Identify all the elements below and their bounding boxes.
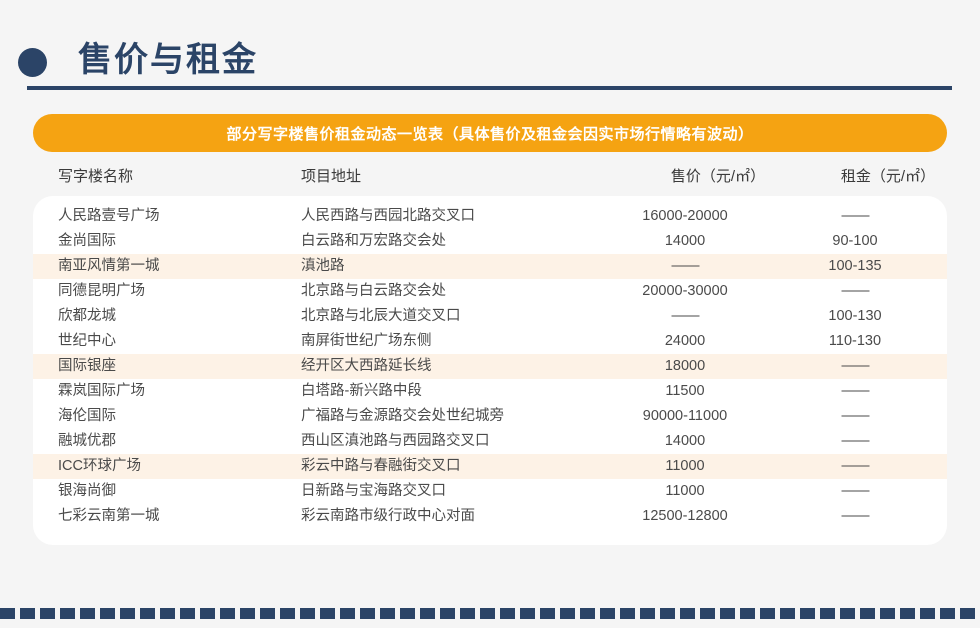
table-row: 金尚国际白云路和万宏路交会处1400090-100 — [33, 229, 947, 254]
cell-rent-price: —— — [760, 282, 947, 301]
footer-dash-segment — [440, 608, 455, 619]
cell-building-name: 南亚风情第一城 — [58, 257, 160, 276]
table-banner-text: 部分写字楼售价租金动态一览表（具体售价及租金会因实市场行情略有波动） — [226, 123, 753, 144]
footer-dash-segment — [140, 608, 155, 619]
cell-rent-price: —— — [760, 357, 947, 376]
cell-address: 白云路和万宏路交会处 — [301, 232, 446, 251]
cell-building-name: 银海尚御 — [58, 482, 116, 501]
cell-address: 西山区滇池路与西园路交叉口 — [301, 432, 490, 451]
cell-rent-price: 100-130 — [760, 307, 947, 326]
cell-building-name: ICC环球广场 — [58, 457, 141, 476]
cell-address: 经开区大西路延长线 — [301, 357, 432, 376]
cell-sale-price: 20000-30000 — [590, 282, 780, 301]
footer-dash-segment — [340, 608, 355, 619]
cell-address: 白塔路-新兴路中段 — [301, 382, 422, 401]
cell-sale-price: 11000 — [590, 482, 780, 501]
table-row: 霖岚国际广场白塔路-新兴路中段11500—— — [33, 379, 947, 404]
cell-sale-price: 14000 — [590, 432, 780, 451]
pricing-table-card: 部分写字楼售价租金动态一览表（具体售价及租金会因实市场行情略有波动） 写字楼名称… — [33, 114, 947, 545]
table-row: 世纪中心南屏街世纪广场东侧24000110-130 — [33, 329, 947, 354]
cell-address: 北京路与北辰大道交叉口 — [301, 307, 461, 326]
cell-rent-price: —— — [760, 457, 947, 476]
cell-address: 彩云中路与春融街交叉口 — [301, 457, 461, 476]
footer-dash-segment — [860, 608, 875, 619]
cell-building-name: 金尚国际 — [58, 232, 116, 251]
column-header-price: 售价（元/㎡） — [623, 165, 813, 186]
table-row: ICC环球广场彩云中路与春融街交叉口11000—— — [33, 454, 947, 479]
footer-dash-segment — [900, 608, 915, 619]
table-row: 国际银座经开区大西路延长线18000—— — [33, 354, 947, 379]
table-row: 人民路壹号广场人民西路与西园北路交叉口16000-20000—— — [33, 204, 947, 229]
table-row: 同德昆明广场北京路与白云路交会处20000-30000—— — [33, 279, 947, 304]
cell-rent-price: 90-100 — [760, 232, 947, 251]
cell-building-name: 海伦国际 — [58, 407, 116, 426]
cell-rent-price: —— — [760, 207, 947, 226]
footer-dash-segment — [820, 608, 835, 619]
cell-sale-price: 16000-20000 — [590, 207, 780, 226]
filled-circle-icon — [18, 48, 47, 77]
cell-sale-price: 12500-12800 — [590, 507, 780, 526]
table-banner: 部分写字楼售价租金动态一览表（具体售价及租金会因实市场行情略有波动） — [33, 114, 947, 152]
footer-dash-segment — [420, 608, 435, 619]
column-header-name: 写字楼名称 — [58, 165, 133, 186]
cell-address: 广福路与金源路交会处世纪城旁 — [301, 407, 504, 426]
footer-dash-segment — [360, 608, 375, 619]
footer-dash-segment — [520, 608, 535, 619]
footer-dash-segment — [720, 608, 735, 619]
footer-dash-segment — [940, 608, 955, 619]
cell-address: 彩云南路市级行政中心对面 — [301, 507, 475, 526]
footer-dash-segment — [120, 608, 135, 619]
cell-building-name: 霖岚国际广场 — [58, 382, 145, 401]
page-header: 售价与租金 — [0, 0, 980, 100]
table-row: 七彩云南第一城彩云南路市级行政中心对面12500-12800—— — [33, 504, 947, 529]
footer-dash-segment — [460, 608, 475, 619]
footer-dash-segment — [660, 608, 675, 619]
footer-dash-segment — [40, 608, 55, 619]
table-row: 欣都龙城北京路与北辰大道交叉口——100-130 — [33, 304, 947, 329]
footer-dashed-strip — [0, 608, 980, 619]
footer-dash-segment — [0, 608, 15, 619]
cell-rent-price: —— — [760, 482, 947, 501]
footer-dash-segment — [300, 608, 315, 619]
footer-dash-segment — [880, 608, 895, 619]
table-row: 海伦国际广福路与金源路交会处世纪城旁90000-11000—— — [33, 404, 947, 429]
footer-dash-segment — [540, 608, 555, 619]
footer-dash-segment — [680, 608, 695, 619]
footer-dash-segment — [640, 608, 655, 619]
cell-address: 南屏街世纪广场东侧 — [301, 332, 432, 351]
footer-dash-segment — [800, 608, 815, 619]
cell-sale-price: 11500 — [590, 382, 780, 401]
column-header-rent: 租金（元/㎡） — [793, 165, 980, 186]
footer-dash-segment — [620, 608, 635, 619]
footer-dash-segment — [260, 608, 275, 619]
footer-dash-segment — [220, 608, 235, 619]
table-row: 融城优郡西山区滇池路与西园路交叉口14000—— — [33, 429, 947, 454]
footer-dash-segment — [380, 608, 395, 619]
footer-dash-segment — [60, 608, 75, 619]
footer-dash-segment — [960, 608, 975, 619]
footer-dash-segment — [80, 608, 95, 619]
cell-address: 北京路与白云路交会处 — [301, 282, 446, 301]
footer-dash-segment — [280, 608, 295, 619]
footer-dash-segment — [180, 608, 195, 619]
footer-dash-segment — [500, 608, 515, 619]
cell-sale-price: 14000 — [590, 232, 780, 251]
table-body: 人民路壹号广场人民西路与西园北路交叉口16000-20000——金尚国际白云路和… — [33, 196, 947, 545]
cell-building-name: 融城优郡 — [58, 432, 116, 451]
cell-rent-price: —— — [760, 382, 947, 401]
footer-dash-segment — [740, 608, 755, 619]
cell-sale-price: 11000 — [590, 457, 780, 476]
cell-rent-price: 110-130 — [760, 332, 947, 351]
footer-dash-segment — [560, 608, 575, 619]
footer-dash-segment — [320, 608, 335, 619]
cell-rent-price: 100-135 — [760, 257, 947, 276]
cell-rent-price: —— — [760, 407, 947, 426]
cell-building-name: 国际银座 — [58, 357, 116, 376]
cell-building-name: 同德昆明广场 — [58, 282, 145, 301]
page-title: 售价与租金 — [78, 38, 258, 82]
footer-dash-segment — [480, 608, 495, 619]
cell-sale-price: 18000 — [590, 357, 780, 376]
column-header-address: 项目地址 — [301, 165, 361, 186]
footer-dash-segment — [780, 608, 795, 619]
table-column-headers: 写字楼名称 项目地址 售价（元/㎡） 租金（元/㎡） — [33, 152, 947, 196]
cell-sale-price: 90000-11000 — [590, 407, 780, 426]
footer-dash-segment — [100, 608, 115, 619]
cell-rent-price: —— — [760, 507, 947, 526]
cell-building-name: 欣都龙城 — [58, 307, 116, 326]
cell-sale-price: —— — [590, 307, 780, 326]
footer-dash-segment — [160, 608, 175, 619]
cell-rent-price: —— — [760, 432, 947, 451]
cell-sale-price: —— — [590, 257, 780, 276]
cell-address: 滇池路 — [301, 257, 345, 276]
cell-address: 日新路与宝海路交叉口 — [301, 482, 446, 501]
footer-dash-segment — [700, 608, 715, 619]
footer-dash-segment — [920, 608, 935, 619]
footer-dash-segment — [200, 608, 215, 619]
cell-address: 人民西路与西园北路交叉口 — [301, 207, 475, 226]
cell-building-name: 七彩云南第一城 — [58, 507, 160, 526]
title-underline-rule — [27, 86, 952, 90]
cell-building-name: 人民路壹号广场 — [58, 207, 160, 226]
footer-dash-segment — [600, 608, 615, 619]
footer-dash-segment — [760, 608, 775, 619]
cell-building-name: 世纪中心 — [58, 332, 116, 351]
footer-dash-segment — [400, 608, 415, 619]
footer-dash-segment — [580, 608, 595, 619]
table-row: 银海尚御日新路与宝海路交叉口11000—— — [33, 479, 947, 504]
footer-dash-segment — [840, 608, 855, 619]
footer-dash-segment — [20, 608, 35, 619]
footer-dash-segment — [240, 608, 255, 619]
table-row: 南亚风情第一城滇池路——100-135 — [33, 254, 947, 279]
cell-sale-price: 24000 — [590, 332, 780, 351]
